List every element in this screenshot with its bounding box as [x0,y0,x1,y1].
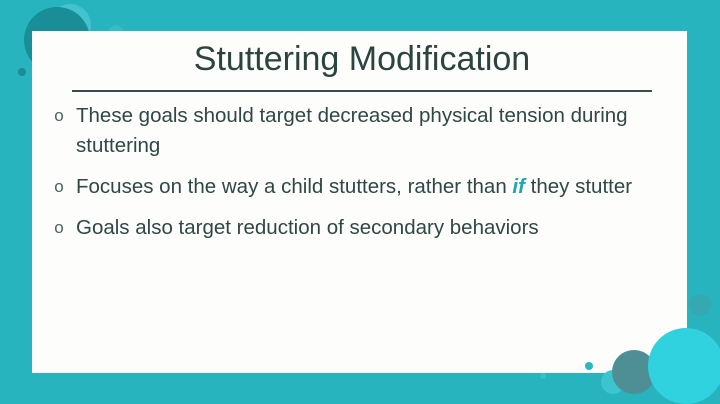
circle-bottom-tiny-dot [585,362,593,370]
circle-bottom-right-faint [689,294,711,316]
slide-canvas: Stuttering Modification o These goals sh… [0,0,720,404]
circle-bottom-right-muted [612,350,656,394]
circle-bottom-mid-dot [540,373,546,379]
circle-bottom-right-bright [648,328,720,404]
decorative-foreground-layer [0,0,720,404]
circle-bottom-small-light [601,370,625,394]
